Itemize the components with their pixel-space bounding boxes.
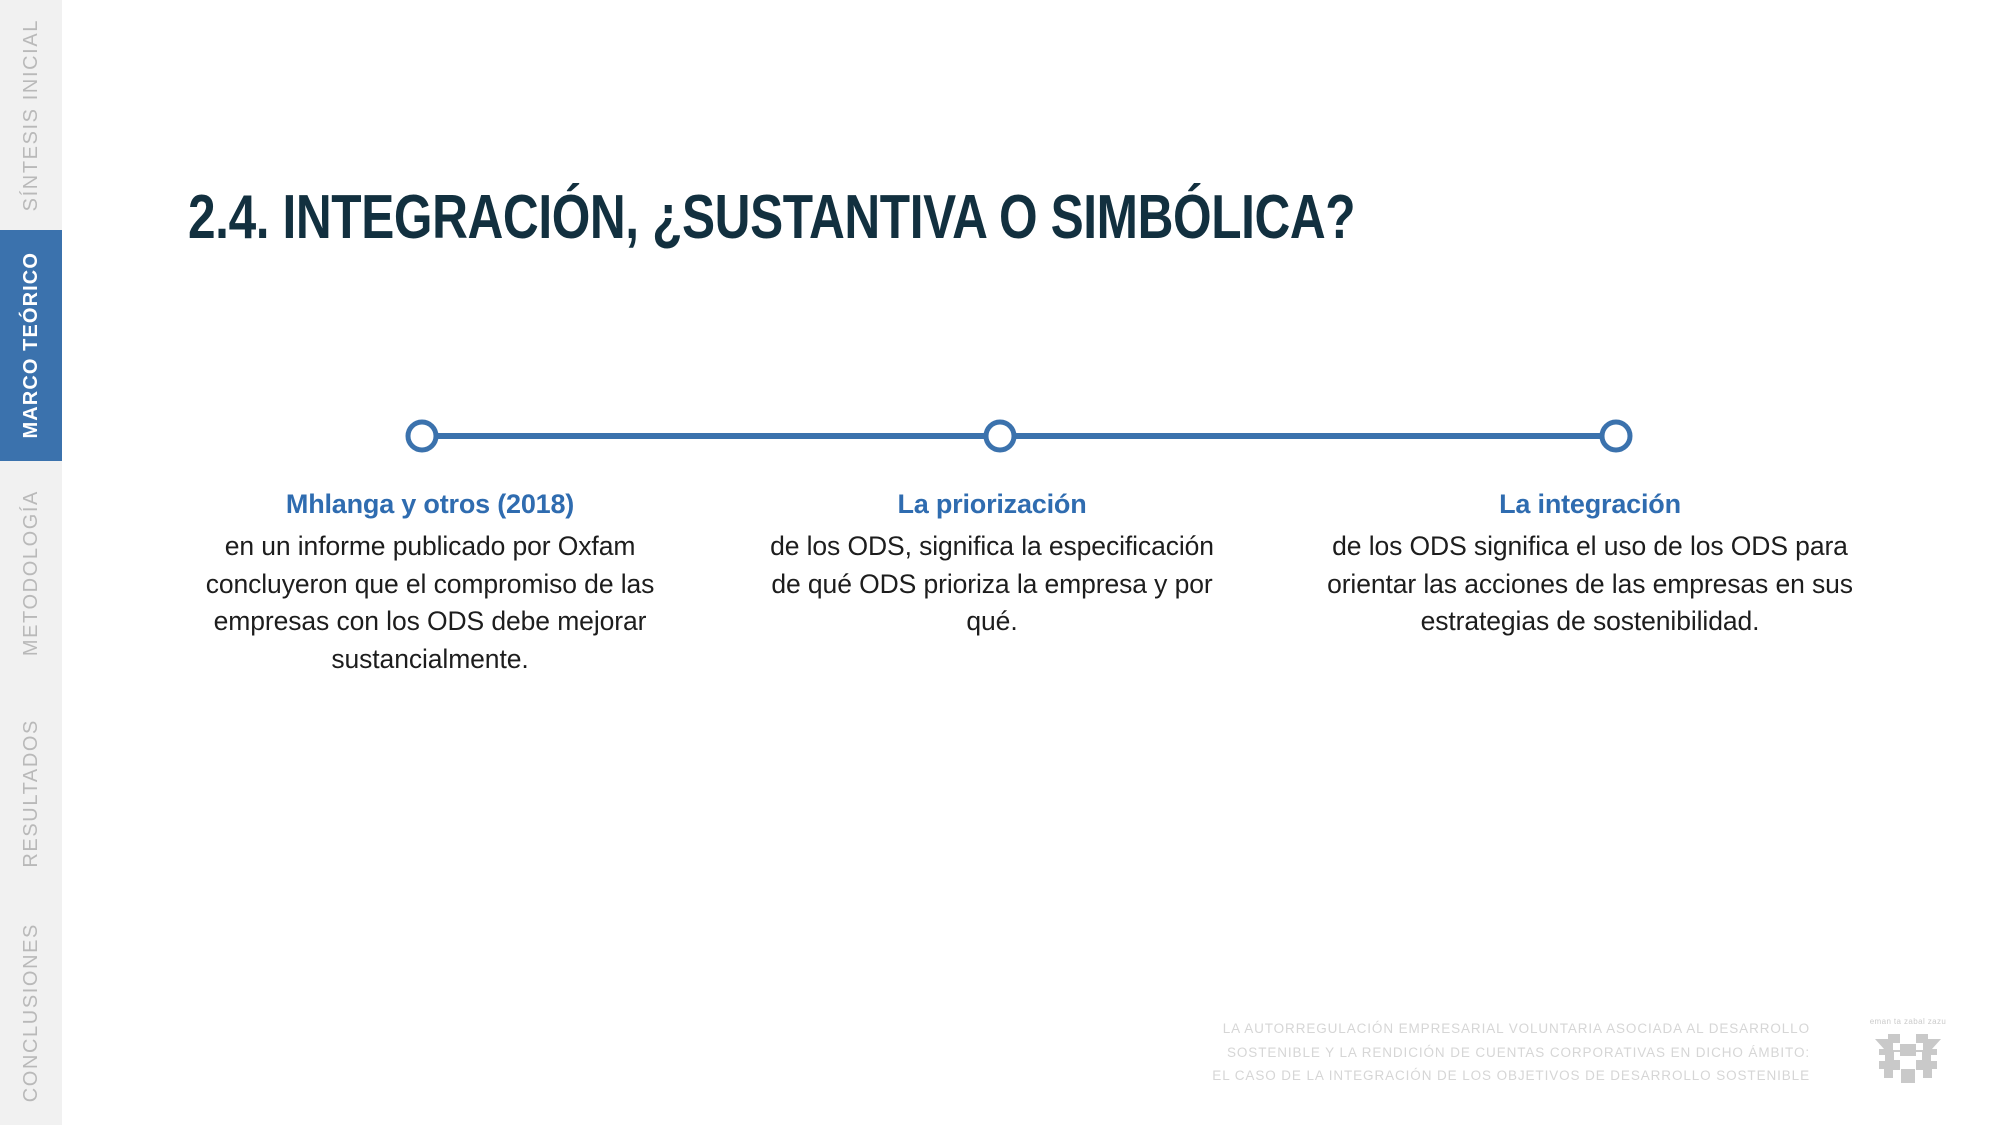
timeline-node-1 <box>408 422 436 450</box>
sidebar-item-label: RESULTADOS <box>21 719 41 868</box>
column-heading: La priorización <box>756 487 1228 522</box>
sidebar-item-marco-teorico[interactable]: MARCO TEÓRICO <box>0 230 62 461</box>
sidebar-item-label: METODOLOGÍA <box>21 490 41 656</box>
timeline-column-3: La integración de los ODS significa el u… <box>1300 487 1880 641</box>
slide-canvas: SÍNTESIS INICIAL MARCO TEÓRICO METODOLOG… <box>0 0 2000 1125</box>
column-heading: La integración <box>1308 487 1872 522</box>
timeline-columns: Mhlanga y otros (2018) en un informe pub… <box>150 487 1900 679</box>
sidebar-item-label: SÍNTESIS INICIAL <box>21 19 41 211</box>
column-body: en un informe publicado por Oxfam conclu… <box>162 528 698 679</box>
column-heading: Mhlanga y otros (2018) <box>162 487 698 522</box>
timeline-node-2 <box>986 422 1014 450</box>
upv-ehu-logo-icon <box>1865 1029 1951 1087</box>
sidebar-item-label: MARCO TEÓRICO <box>21 252 41 439</box>
logo-motto-text: eman ta zabal zazu <box>1870 1017 1947 1026</box>
footer-line-3: el caso de la integración de los objetiv… <box>1212 1064 1810 1087</box>
section-sidebar: SÍNTESIS INICIAL MARCO TEÓRICO METODOLOG… <box>0 0 62 1125</box>
sidebar-item-label: CONCLUSIONES <box>21 923 41 1102</box>
timeline-column-1: Mhlanga y otros (2018) en un informe pub… <box>150 487 710 679</box>
sidebar-item-resultados[interactable]: RESULTADOS <box>0 686 62 901</box>
column-body: de los ODS significa el uso de los ODS p… <box>1308 528 1872 641</box>
footer-thesis-title: La autorregulación empresarial voluntari… <box>1212 1017 1810 1087</box>
page-title: 2.4. INTEGRACIÓN, ¿SUSTANTIVA O SIMBÓLIC… <box>188 185 1355 250</box>
footer-line-2: sostenible y la rendición de cuentas cor… <box>1212 1041 1810 1064</box>
timeline-node-3 <box>1602 422 1630 450</box>
timeline-column-2: La priorización de los ODS, significa la… <box>732 487 1252 641</box>
university-logo: eman ta zabal zazu <box>1848 1017 1968 1095</box>
sidebar-item-conclusiones[interactable]: CONCLUSIONES <box>0 901 62 1125</box>
footer-line-1: La autorregulación empresarial voluntari… <box>1212 1017 1810 1040</box>
sidebar-item-sintesis-inicial[interactable]: SÍNTESIS INICIAL <box>0 0 62 230</box>
column-body: de los ODS, significa la especificación … <box>756 528 1228 641</box>
sidebar-item-metodologia[interactable]: METODOLOGÍA <box>0 461 62 686</box>
